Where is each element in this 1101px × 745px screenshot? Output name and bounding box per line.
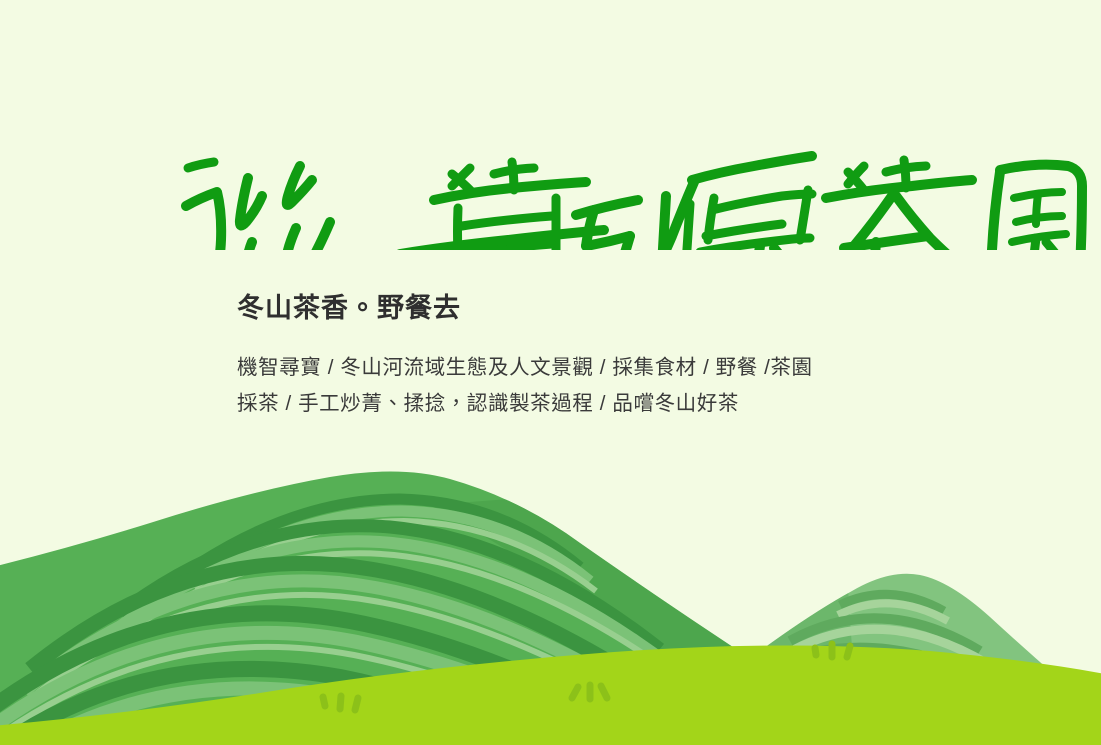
poster-subtitle: 冬山茶香。野餐去 — [237, 292, 937, 324]
title-handwriting-icon: 從草原到茶園 — [0, 70, 1101, 250]
tea-terrace-hills-illustration — [0, 465, 1101, 745]
poster-description-line-2: 採茶 / 手工炒菁、揉捻，認識製茶過程 / 品嚐冬山好茶 — [237, 386, 937, 421]
poster-description-line-1: 機智尋寶 / 冬山河流域生態及人文景觀 / 採集食材 / 野餐 /茶園 — [237, 350, 937, 385]
poster-title: 從草原到茶園 — [0, 70, 1101, 250]
poster-text-block: 冬山茶香。野餐去 機智尋寶 / 冬山河流域生態及人文景觀 / 採集食材 / 野餐… — [237, 292, 937, 421]
poster-canvas: 從草原到茶園 冬山茶香。野餐去 機智尋寶 / 冬山河流域生態及人文景觀 / 採集… — [0, 0, 1101, 745]
